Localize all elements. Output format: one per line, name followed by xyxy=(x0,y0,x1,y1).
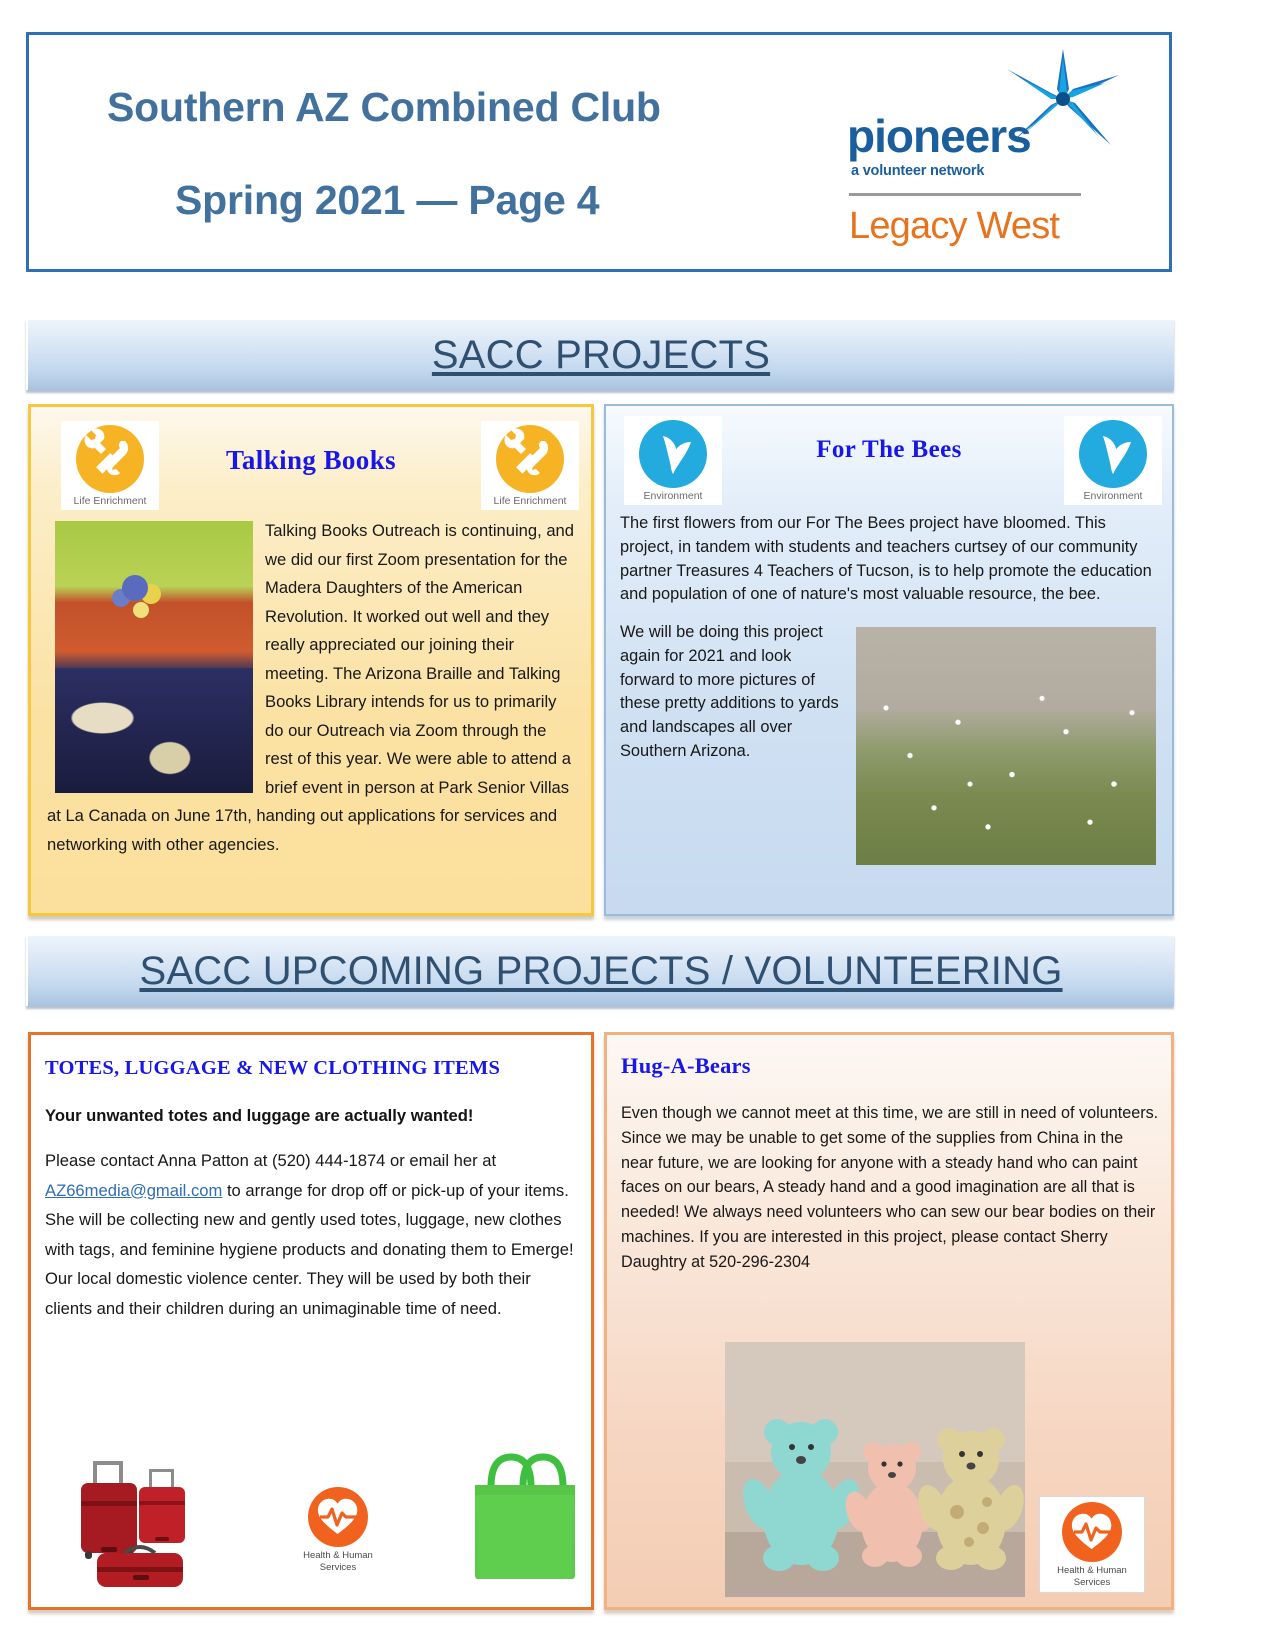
heart-pulse-icon xyxy=(1062,1502,1122,1562)
bees-paragraph-1: The first flowers from our For The Bees … xyxy=(620,512,1158,607)
card-hug-a-bears: Hug-A-Bears Even though we cannot meet a… xyxy=(604,1032,1174,1610)
hhs-label-line1: Health & Human xyxy=(1057,1565,1127,1576)
bees-photo xyxy=(856,627,1156,865)
pioneers-logo: pioneers a volunteer network Legacy West xyxy=(829,35,1169,269)
hhs-label-line1: Health & Human xyxy=(303,1550,373,1561)
section-banner-projects: SACC PROJECTS xyxy=(26,318,1174,390)
page-title: Southern AZ Combined Club xyxy=(107,84,829,131)
tote-bag-photo xyxy=(461,1447,589,1585)
card-talking-books: Life Enrichment Life Enrichment Talking … xyxy=(28,404,594,916)
talking-books-header: Life Enrichment Life Enrichment Talking … xyxy=(31,407,591,517)
bears-heading: Hug-A-Bears xyxy=(607,1035,1171,1079)
bears-photo xyxy=(725,1342,1025,1597)
totes-lead: Your unwanted totes and luggage are actu… xyxy=(31,1080,591,1126)
talking-books-body: Talking Books Outreach is continuing, an… xyxy=(31,517,591,859)
page-subtitle: Spring 2021 — Page 4 xyxy=(107,177,829,224)
logo-divider xyxy=(849,193,1081,196)
talking-books-photo xyxy=(55,521,253,793)
totes-heading: TOTES, LUGGAGE & NEW CLOTHING ITEMS xyxy=(31,1035,591,1080)
hhs-logo-totes: Health & Human Services xyxy=(286,1482,390,1577)
bees-header: Environment Environment For The Bees xyxy=(606,406,1172,512)
section-banner-projects-label: SACC PROJECTS xyxy=(432,333,770,378)
badge-label-environment-left: Environment xyxy=(624,490,722,502)
totes-body-after-email: to arrange for drop off or pick-up of yo… xyxy=(45,1181,574,1318)
masthead: Southern AZ Combined Club Spring 2021 — … xyxy=(26,32,1172,272)
hhs-label-bears: Health & Human Services xyxy=(1040,1565,1144,1588)
badge-label-life-enrichment-left: Life Enrichment xyxy=(61,495,159,507)
badge-label-life-enrichment-right: Life Enrichment xyxy=(481,495,579,507)
logo-wordmark: pioneers xyxy=(847,113,1031,159)
badge-label-environment-right: Environment xyxy=(1064,490,1162,502)
hhs-logo-bears: Health & Human Services xyxy=(1039,1496,1145,1593)
card-totes-luggage: TOTES, LUGGAGE & NEW CLOTHING ITEMS Your… xyxy=(28,1032,594,1610)
masthead-titles: Southern AZ Combined Club Spring 2021 — … xyxy=(29,35,829,269)
section-banner-upcoming-label: SACC UPCOMING PROJECTS / VOLUNTEERING xyxy=(139,949,1062,994)
hhs-label-line2: Services xyxy=(320,1562,356,1573)
totes-body: Please contact Anna Patton at (520) 444-… xyxy=(31,1126,591,1323)
hhs-label-totes: Health & Human Services xyxy=(286,1550,390,1573)
card-for-the-bees: Environment Environment For The Bees The… xyxy=(604,404,1174,916)
totes-email-link[interactable]: AZ66media@gmail.com xyxy=(45,1181,222,1200)
logo-tagline: a volunteer network xyxy=(851,163,984,179)
heart-pulse-icon xyxy=(308,1487,368,1547)
totes-body-before-email: Please contact Anna Patton at (520) 444-… xyxy=(45,1151,496,1170)
bears-body: Even though we cannot meet at this time,… xyxy=(607,1079,1171,1274)
bees-title: For The Bees xyxy=(606,436,1172,464)
logo-legacy-west: Legacy West xyxy=(849,207,1059,245)
talking-books-title: Talking Books xyxy=(31,445,591,476)
hhs-label-line2: Services xyxy=(1074,1577,1110,1588)
bees-body: The first flowers from our For The Bees … xyxy=(606,512,1172,764)
section-banner-upcoming: SACC UPCOMING PROJECTS / VOLUNTEERING xyxy=(26,934,1174,1006)
luggage-photo xyxy=(75,1449,255,1589)
